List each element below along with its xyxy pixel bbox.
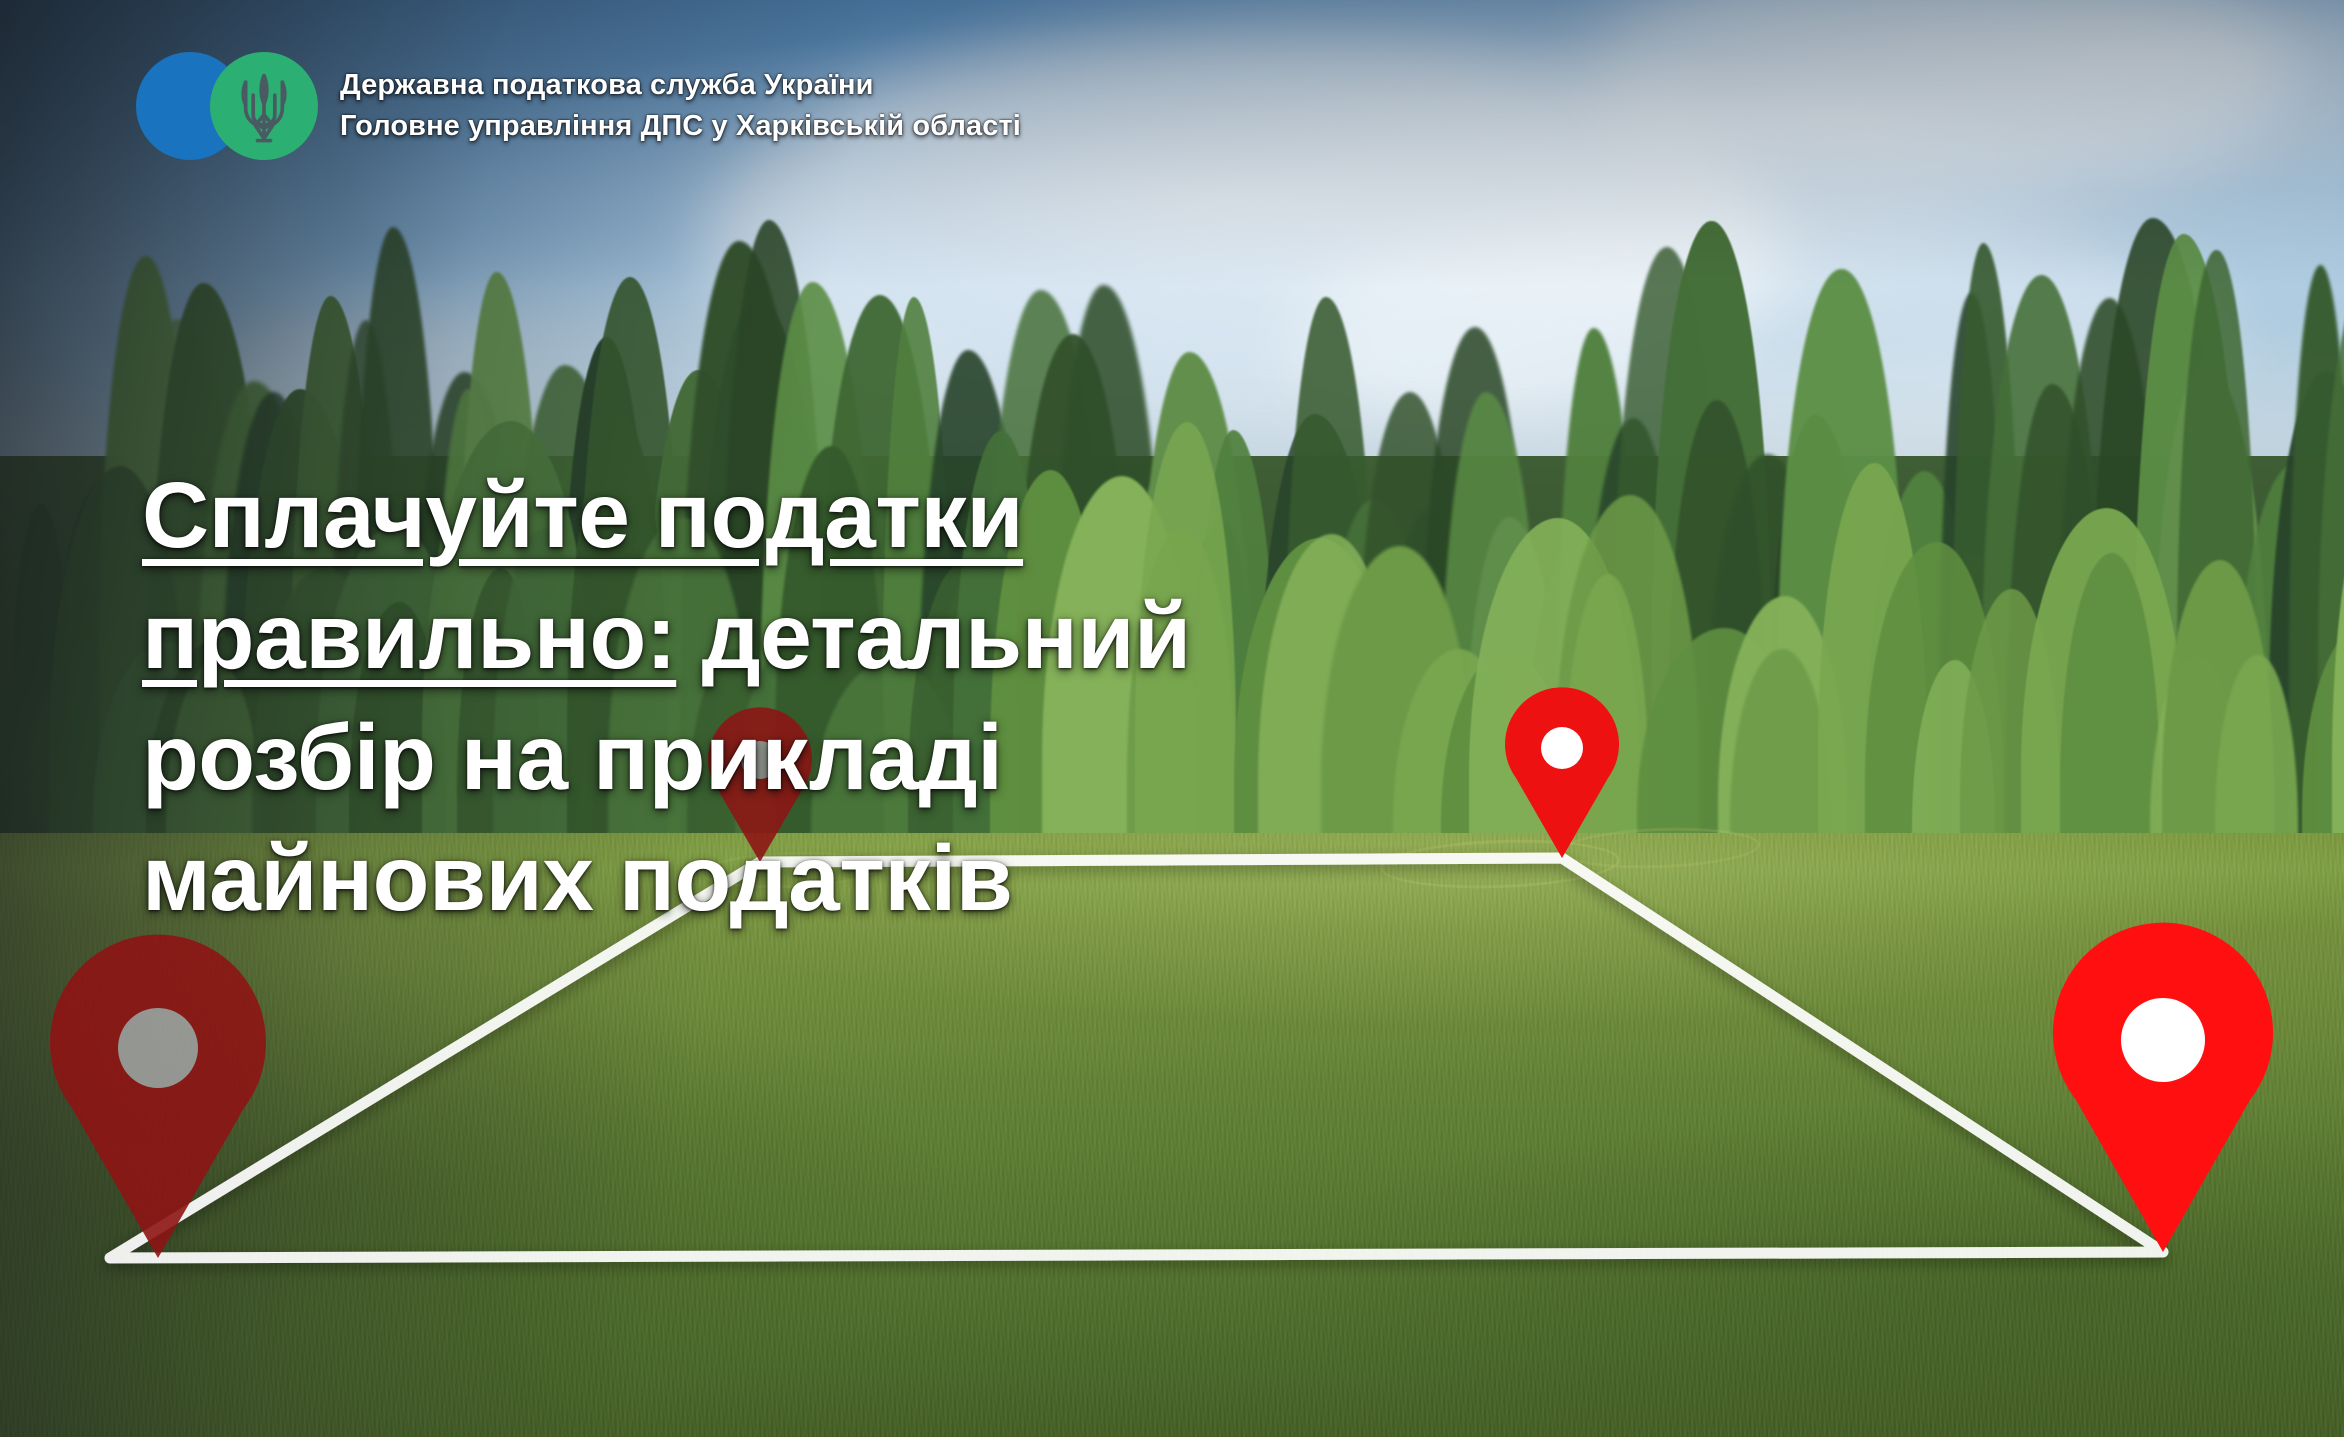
headline-line-4: майнових податків [142, 818, 1562, 939]
dps-logo[interactable] [136, 52, 318, 160]
headline-line-1: Сплачуйте податки [142, 455, 1562, 576]
headline-block: Сплачуйте податки правильно: детальний р… [142, 455, 1562, 939]
headline-line-3: розбір на прикладі [142, 697, 1562, 818]
brand-line-region: Головне управління ДПС у Харківській обл… [340, 106, 1021, 147]
brand-line-agency: Державна податкова служба України [340, 65, 1021, 106]
headline-line-2: правильно: детальний [142, 576, 1562, 697]
pin-bottom-left[interactable] [50, 935, 266, 1258]
brand-text-block: Державна податкова служба України Головн… [340, 65, 1021, 147]
poster-canvas: Державна податкова служба України Головн… [0, 0, 2344, 1437]
headline-line-1-text: Сплачуйте податки [142, 463, 1023, 567]
tryzub-icon [210, 52, 318, 160]
headline-line-2-rest: детальний [676, 584, 1190, 688]
brand-header: Державна податкова служба України Головн… [136, 52, 1021, 160]
headline-line-2-underlined: правильно: [142, 584, 676, 688]
